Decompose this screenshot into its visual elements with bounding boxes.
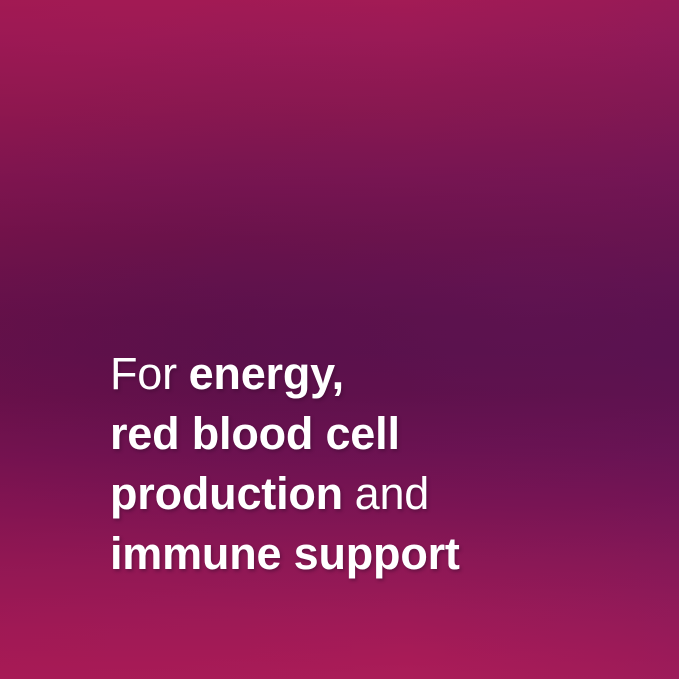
promotional-banner: Forenergy, red blood cell productionand … [0, 0, 679, 679]
headline-line-1: Forenergy, [110, 344, 630, 404]
headline-segment-for: For [110, 348, 177, 399]
headline-segment-production: production [110, 468, 343, 519]
headline-line-2: red blood cell [110, 404, 630, 464]
headline-block: Forenergy, red blood cell productionand … [110, 344, 630, 584]
headline-segment-and: and [355, 468, 429, 519]
headline-segment-red-blood-cell: red blood cell [110, 408, 400, 459]
headline-line-4: immune support [110, 524, 630, 584]
headline-line-3: productionand [110, 464, 630, 524]
headline-segment-energy: energy, [189, 348, 344, 399]
headline-segment-immune-support: immune support [110, 528, 460, 579]
